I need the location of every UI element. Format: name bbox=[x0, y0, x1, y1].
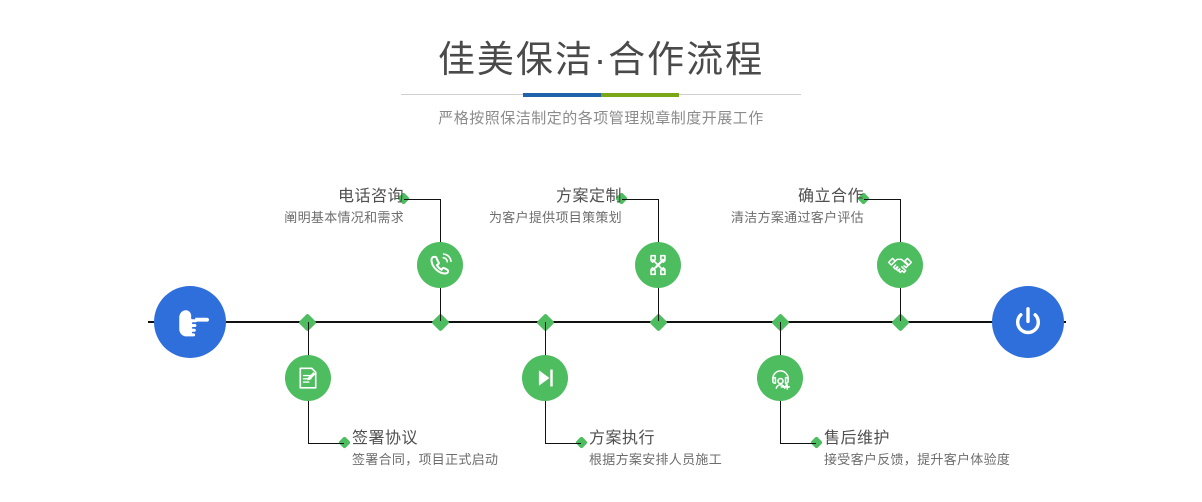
step-node-3[interactable] bbox=[635, 242, 681, 288]
step-label-6: 售后维护 接受客户反馈，提升客户体验度 bbox=[824, 428, 1010, 470]
step-desc-3: 为客户提供项目策策划 bbox=[489, 208, 622, 228]
step-label-5: 确立合作 清洁方案通过客户评估 bbox=[731, 186, 864, 228]
step-title-1: 电话咨询 bbox=[284, 186, 404, 208]
divider-green-segment bbox=[601, 93, 679, 97]
step-title-5: 确立合作 bbox=[731, 186, 864, 208]
step-label-3: 方案定制 为客户提供项目策策划 bbox=[489, 186, 622, 228]
step-title-2: 签署协议 bbox=[352, 428, 498, 450]
step-title-3: 方案定制 bbox=[489, 186, 622, 208]
step-desc-1: 阐明基本情况和需求 bbox=[284, 208, 404, 228]
step-node-4[interactable] bbox=[522, 355, 568, 401]
pointing-hand-icon bbox=[154, 286, 226, 358]
step-elbow-1 bbox=[404, 199, 440, 200]
step-desc-5: 清洁方案通过客户评估 bbox=[731, 208, 864, 228]
step-label-1: 电话咨询 阐明基本情况和需求 bbox=[284, 186, 404, 228]
step-node-5[interactable] bbox=[877, 242, 923, 288]
step-title-6: 售后维护 bbox=[824, 428, 1010, 450]
step-label-2: 签署协议 签署合同，项目正式启动 bbox=[352, 428, 498, 470]
step-node-1[interactable] bbox=[417, 242, 463, 288]
step-elbow-4 bbox=[545, 443, 581, 444]
process-flow-infographic: 佳美保洁·合作流程 严格按照保洁制定的各项管理规章制度开展工作 bbox=[0, 0, 1202, 502]
step-elbow-2 bbox=[308, 443, 344, 444]
step-elbow-3 bbox=[622, 199, 658, 200]
step-node-6[interactable] bbox=[757, 355, 803, 401]
power-icon bbox=[992, 286, 1064, 358]
step-elbow-6 bbox=[780, 443, 816, 444]
step-desc-6: 接受客户反馈，提升客户体验度 bbox=[824, 450, 1010, 470]
timeline-axis bbox=[148, 321, 1066, 323]
step-node-2[interactable] bbox=[285, 355, 331, 401]
page-subtitle: 严格按照保洁制定的各项管理规章制度开展工作 bbox=[0, 108, 1202, 130]
step-elbow-5 bbox=[864, 199, 900, 200]
step-title-4: 方案执行 bbox=[589, 428, 722, 450]
divider-blue-segment bbox=[523, 93, 601, 97]
step-label-4: 方案执行 根据方案安排人员施工 bbox=[589, 428, 722, 470]
step-desc-4: 根据方案安排人员施工 bbox=[589, 450, 722, 470]
title-divider bbox=[401, 93, 801, 97]
step-desc-2: 签署合同，项目正式启动 bbox=[352, 450, 498, 470]
page-title: 佳美保洁·合作流程 bbox=[0, 38, 1202, 82]
